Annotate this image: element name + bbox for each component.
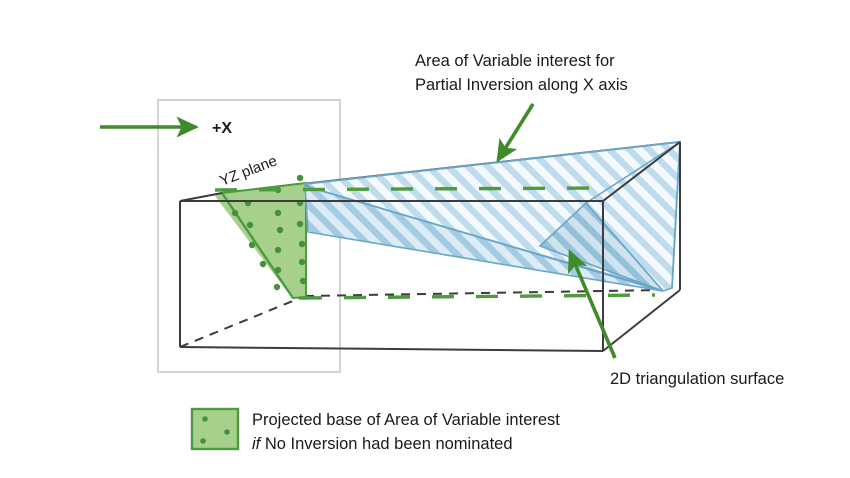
arrow-down-left-icon	[498, 104, 533, 160]
green-dotted-square-icon	[192, 409, 238, 449]
x-axis-label: +X	[212, 120, 232, 137]
legend-line-1: Projected base of Area of Variable inter…	[252, 411, 560, 429]
top-callout: Area of Variable interest for Partial In…	[415, 52, 628, 160]
diagram-canvas: +X YZ plane Area of Variable interest fo…	[0, 0, 850, 478]
diagram-svg: +X YZ plane Area of Variable interest fo…	[0, 0, 850, 478]
green-dash-upper	[215, 188, 600, 190]
legend: Projected base of Area of Variable inter…	[192, 409, 560, 453]
legend-line-2-rest: No Inversion had been nominated	[260, 435, 512, 453]
legend-line-2: if No Inversion had been nominated	[252, 435, 513, 453]
triangulation-surface	[305, 142, 680, 291]
top-callout-line2: Partial Inversion along X axis	[415, 76, 628, 94]
bottom-callout-label: 2D triangulation surface	[610, 370, 784, 388]
top-callout-line1: Area of Variable interest for	[415, 52, 615, 70]
box-edge-bottom-right-slant	[603, 290, 680, 351]
